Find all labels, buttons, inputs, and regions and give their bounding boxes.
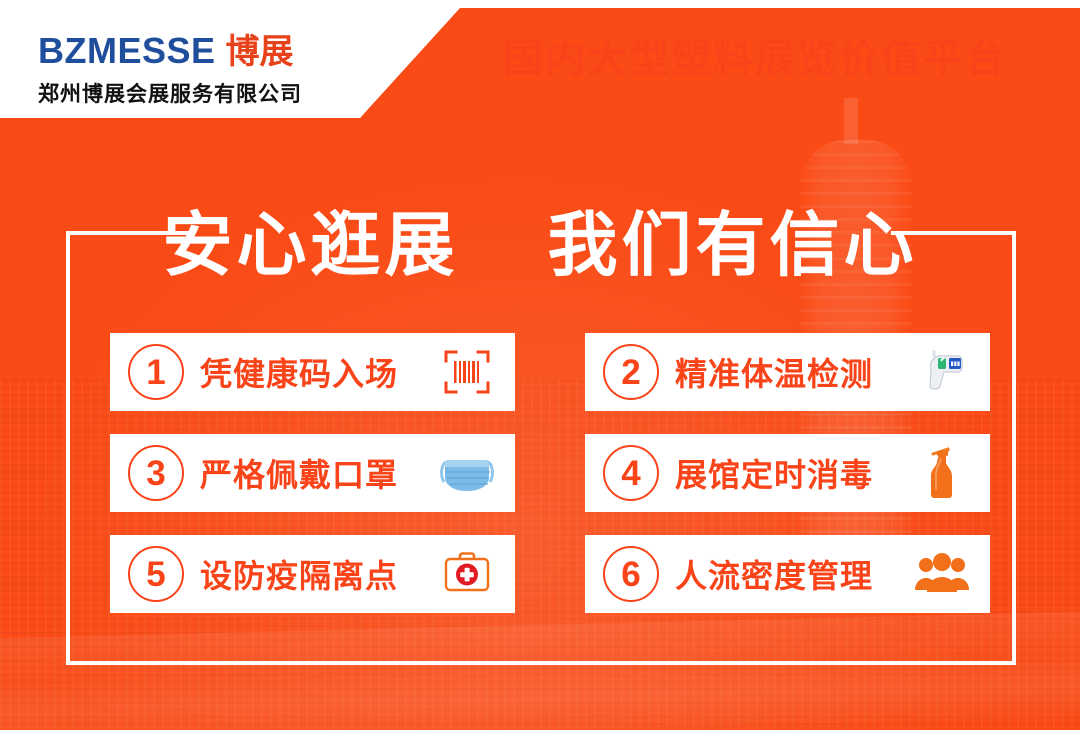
headline-part-one: 安心逛展 [163,206,459,284]
measures-row: 5 设防疫隔离点 6 人流密度管理 [110,535,990,613]
measure-card-5[interactable]: 5 设防疫隔离点 [110,535,515,613]
frame-right-edge [1012,231,1016,665]
measure-label: 严格佩戴口罩 [200,450,398,496]
spray-bottle-icon [914,445,970,501]
first-aid-kit-icon [439,546,495,602]
face-mask-icon [439,445,495,501]
frame-bottom-edge [66,661,1016,665]
frame-left-edge [66,231,70,665]
logo-latin-text: BZMESSE [38,30,216,72]
measure-card-2[interactable]: 2 精准体温检测 [585,333,990,411]
measures-row: 1 凭健康码入场 [110,333,990,411]
measure-number: 1 [128,344,184,400]
measure-number: 5 [128,546,184,602]
promo-banner: BZMESSE 博展 郑州博展会展服务有限公司 国内大型塑料展览价值平台 安心逛… [0,0,1080,730]
page-title: 安心逛展 我们有信心 [0,189,1080,290]
measure-label: 精准体温检测 [675,349,873,395]
measure-label: 设防疫隔离点 [200,551,398,597]
company-logo: BZMESSE 博展 郑州博展会展服务有限公司 [38,24,302,108]
measure-label: 人流密度管理 [675,551,873,597]
measure-number: 3 [128,445,184,501]
headline-part-two: 我们有信心 [547,206,917,284]
people-group-icon [914,546,970,602]
measure-number: 4 [603,445,659,501]
header-tagline: 国内大型塑料展览价值平台 [503,26,1007,84]
barcode-scan-icon [439,344,495,400]
measure-label: 展馆定时消毒 [675,450,873,496]
measure-card-1[interactable]: 1 凭健康码入场 [110,333,515,411]
measure-number: 6 [603,546,659,602]
measure-card-3[interactable]: 3 严格佩戴口罩 [110,434,515,512]
measure-number: 2 [603,344,659,400]
measure-card-6[interactable]: 6 人流密度管理 [585,535,990,613]
measures-list: 1 凭健康码入场 [110,333,990,636]
measure-card-4[interactable]: 4 展馆定时消毒 [585,434,990,512]
logo-chinese-text: 博展 [226,24,294,73]
measures-row: 3 严格佩戴口罩 4 展馆定时消毒 [110,434,990,512]
measure-label: 凭健康码入场 [200,349,398,395]
thermometer-gun-icon [914,344,970,400]
company-name: 郑州博展会展服务有限公司 [38,78,302,108]
